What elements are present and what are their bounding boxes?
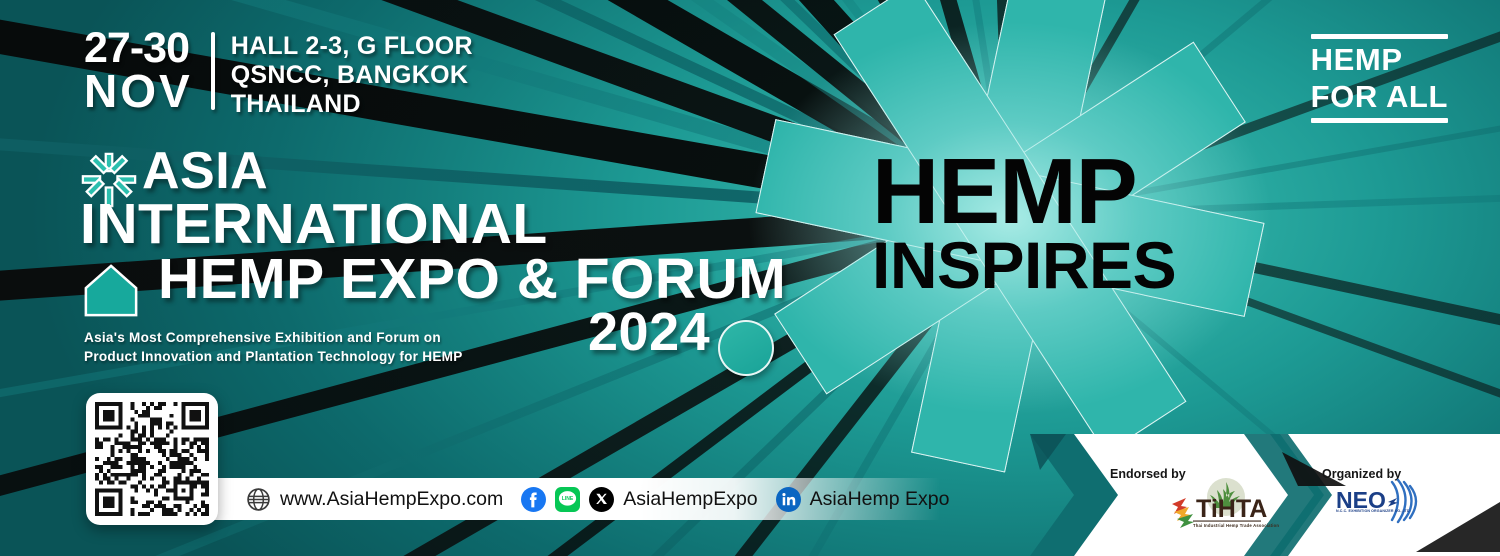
- hero-line-hemp: HEMP: [872, 152, 1176, 232]
- tagline-line-1: Asia's Most Comprehensive Exhibition and…: [84, 328, 463, 347]
- svg-text:TiHTA: TiHTA: [1196, 495, 1267, 523]
- hfa-line-2: FOR ALL: [1311, 81, 1448, 113]
- date-venue-block: 27-30 NOV HALL 2-3, G FLOOR QSNCC, BANGK…: [84, 28, 473, 119]
- tagline-line-2: Product Innovation and Plantation Techno…: [84, 347, 463, 366]
- facebook-icon[interactable]: [521, 487, 546, 512]
- venue-line-3: THAILAND: [231, 90, 473, 119]
- line-icon[interactable]: LINE: [555, 487, 580, 512]
- title-year: 2024: [588, 308, 800, 358]
- linkedin-handle[interactable]: AsiaHemp Expo: [810, 488, 950, 511]
- event-tagline: Asia's Most Comprehensive Exhibition and…: [84, 328, 463, 367]
- linkedin-icon[interactable]: [776, 487, 801, 512]
- event-month: NOV: [84, 69, 193, 113]
- divider-rule: [211, 32, 215, 110]
- qr-code[interactable]: [86, 393, 218, 525]
- hemp-for-all-logo: HEMP FOR ALL: [1311, 34, 1448, 123]
- venue-line-2: QSNCC, BANGKOK: [231, 61, 473, 90]
- hfa-line-1: HEMP: [1311, 44, 1448, 76]
- venue-line-1: HALL 2-3, G FLOOR: [231, 32, 473, 61]
- x-twitter-icon[interactable]: [589, 487, 614, 512]
- event-title: ASIA INTERNATIONAL HEMP EXPO & FORUM 202…: [80, 148, 800, 357]
- hfa-rule-bottom: [1311, 118, 1448, 123]
- hfa-rule-top: [1311, 34, 1448, 39]
- tihta-subtext: Thai Industrial Hemp Trade Association: [1193, 523, 1279, 528]
- event-banner: 27-30 NOV HALL 2-3, G FLOOR QSNCC, BANGK…: [0, 0, 1500, 556]
- sponsor-strip: Endorsed by TiHTA Thai Industrial Hemp T…: [1030, 434, 1500, 556]
- title-line-asia: ASIA: [142, 148, 800, 196]
- svg-text:LINE: LINE: [562, 495, 574, 501]
- event-days: 27-30: [84, 28, 193, 69]
- tihta-logo: TiHTA Thai Industrial Hemp Trade Associa…: [1160, 476, 1268, 534]
- globe-icon: [246, 487, 271, 512]
- contact-bar: www.AsiaHempExpo.com LINE AsiaHempExpo: [150, 478, 940, 520]
- neo-logo: NEO N.C.C. EXHIBITION ORGANIZER CO.,LTD.: [1330, 474, 1446, 534]
- neo-subtext: N.C.C. EXHIBITION ORGANIZER CO.,LTD.: [1336, 509, 1411, 513]
- title-line-hemp-expo: HEMP EXPO & FORUM: [158, 253, 800, 305]
- hero-line-inspires: INSPIRES: [872, 236, 1176, 295]
- qr-code-image: [95, 402, 209, 516]
- title-line-international: INTERNATIONAL: [80, 198, 800, 250]
- venue-address: HALL 2-3, G FLOOR QSNCC, BANGKOK THAILAN…: [231, 28, 473, 119]
- x-handle[interactable]: AsiaHempExpo: [623, 488, 757, 511]
- website-url[interactable]: www.AsiaHempExpo.com: [280, 488, 503, 511]
- event-dates: 27-30 NOV: [84, 28, 193, 113]
- hero-slogan: HEMP INSPIRES: [872, 152, 1176, 295]
